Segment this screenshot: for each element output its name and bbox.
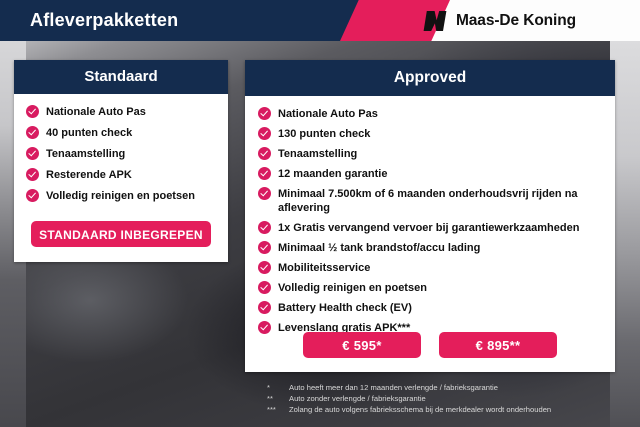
price-button-row: € 595* € 895** (245, 332, 615, 358)
card-approved: Approved Nationale Auto Pas 130 punten c… (245, 60, 615, 372)
delivery-packages-screen: Afleverpakketten Maas-De Koning Standaar… (0, 0, 640, 427)
check-circle-icon (258, 127, 271, 140)
feature-label: Resterende APK (46, 168, 132, 182)
list-item: 130 punten check (258, 127, 615, 141)
maas-de-koning-m-mark-icon (422, 11, 448, 31)
check-circle-icon (26, 147, 39, 160)
feature-label: 40 punten check (46, 126, 132, 140)
feature-label: Tenaamstelling (278, 147, 357, 161)
list-item: Nationale Auto Pas (26, 105, 228, 119)
feature-label: Battery Health check (EV) (278, 301, 412, 315)
feature-label: Volledig reinigen en poetsen (46, 189, 195, 203)
list-item: 1x Gratis vervangend vervoer bij garanti… (258, 221, 615, 235)
feature-label: Mobiliteitsservice (278, 261, 370, 275)
feature-label: 130 punten check (278, 127, 370, 141)
check-circle-icon (258, 107, 271, 120)
footnote-text: Auto heeft meer dan 12 maanden verlengde… (289, 382, 498, 393)
list-item: Volledig reinigen en poetsen (26, 189, 228, 203)
footnote-1: * Auto heeft meer dan 12 maanden verleng… (267, 382, 551, 393)
list-item: Volledig reinigen en poetsen (258, 281, 615, 295)
check-circle-icon (258, 187, 271, 200)
card-standaard-title: Standaard (14, 60, 228, 94)
card-approved-title: Approved (245, 60, 615, 96)
feature-label: 12 maanden garantie (278, 167, 387, 181)
footnote-3: *** Zolang de auto volgens fabrieksschem… (267, 404, 551, 415)
page-header: Afleverpakketten Maas-De Koning (0, 0, 640, 41)
check-circle-icon (258, 147, 271, 160)
check-circle-icon (258, 221, 271, 234)
footnote-text: Zolang de auto volgens fabrieksschema bi… (289, 404, 551, 415)
check-circle-icon (26, 168, 39, 181)
list-item: Mobiliteitsservice (258, 261, 615, 275)
feature-label: Minimaal 7.500km of 6 maanden onderhouds… (278, 187, 615, 215)
list-item: Resterende APK (26, 168, 228, 182)
footnote-text: Auto zonder verlengde / fabrieksgarantie (289, 393, 426, 404)
feature-label: Volledig reinigen en poetsen (278, 281, 427, 295)
list-item: Minimaal ½ tank brandstof/accu lading (258, 241, 615, 255)
list-item: Minimaal 7.500km of 6 maanden onderhouds… (258, 187, 615, 215)
list-item: Nationale Auto Pas (258, 107, 615, 121)
footnote-block: * Auto heeft meer dan 12 maanden verleng… (267, 382, 551, 415)
check-circle-icon (258, 241, 271, 254)
check-circle-icon (26, 189, 39, 202)
card-standaard: Standaard Nationale Auto Pas 40 punten c… (14, 60, 228, 262)
price-button-595[interactable]: € 595* (303, 332, 421, 358)
footnote-marker: *** (267, 404, 283, 415)
list-item: 40 punten check (26, 126, 228, 140)
footnote-marker: ** (267, 393, 283, 404)
card-standaard-feature-list: Nationale Auto Pas 40 punten check Tenaa… (14, 94, 228, 203)
feature-label: Nationale Auto Pas (278, 107, 378, 121)
standaard-inbegrepen-button[interactable]: STANDAARD INBEGREPEN (31, 221, 211, 247)
list-item: 12 maanden garantie (258, 167, 615, 181)
list-item: Tenaamstelling (258, 147, 615, 161)
footnote-2: ** Auto zonder verlengde / fabrieksgaran… (267, 393, 551, 404)
card-approved-feature-list: Nationale Auto Pas 130 punten check Tena… (245, 96, 615, 335)
feature-label: Minimaal ½ tank brandstof/accu lading (278, 241, 480, 255)
check-circle-icon (26, 105, 39, 118)
check-circle-icon (258, 261, 271, 274)
feature-label: 1x Gratis vervangend vervoer bij garanti… (278, 221, 579, 235)
list-item: Battery Health check (EV) (258, 301, 615, 315)
check-circle-icon (258, 301, 271, 314)
check-circle-icon (258, 281, 271, 294)
list-item: Tenaamstelling (26, 147, 228, 161)
footnote-marker: * (267, 382, 283, 393)
check-circle-icon (258, 167, 271, 180)
brand-name: Maas-De Koning (456, 12, 576, 30)
feature-label: Tenaamstelling (46, 147, 125, 161)
page-title: Afleverpakketten (30, 0, 178, 41)
check-circle-icon (26, 126, 39, 139)
feature-label: Nationale Auto Pas (46, 105, 146, 119)
price-button-895[interactable]: € 895** (439, 332, 557, 358)
brand-logo: Maas-De Koning (422, 0, 576, 41)
